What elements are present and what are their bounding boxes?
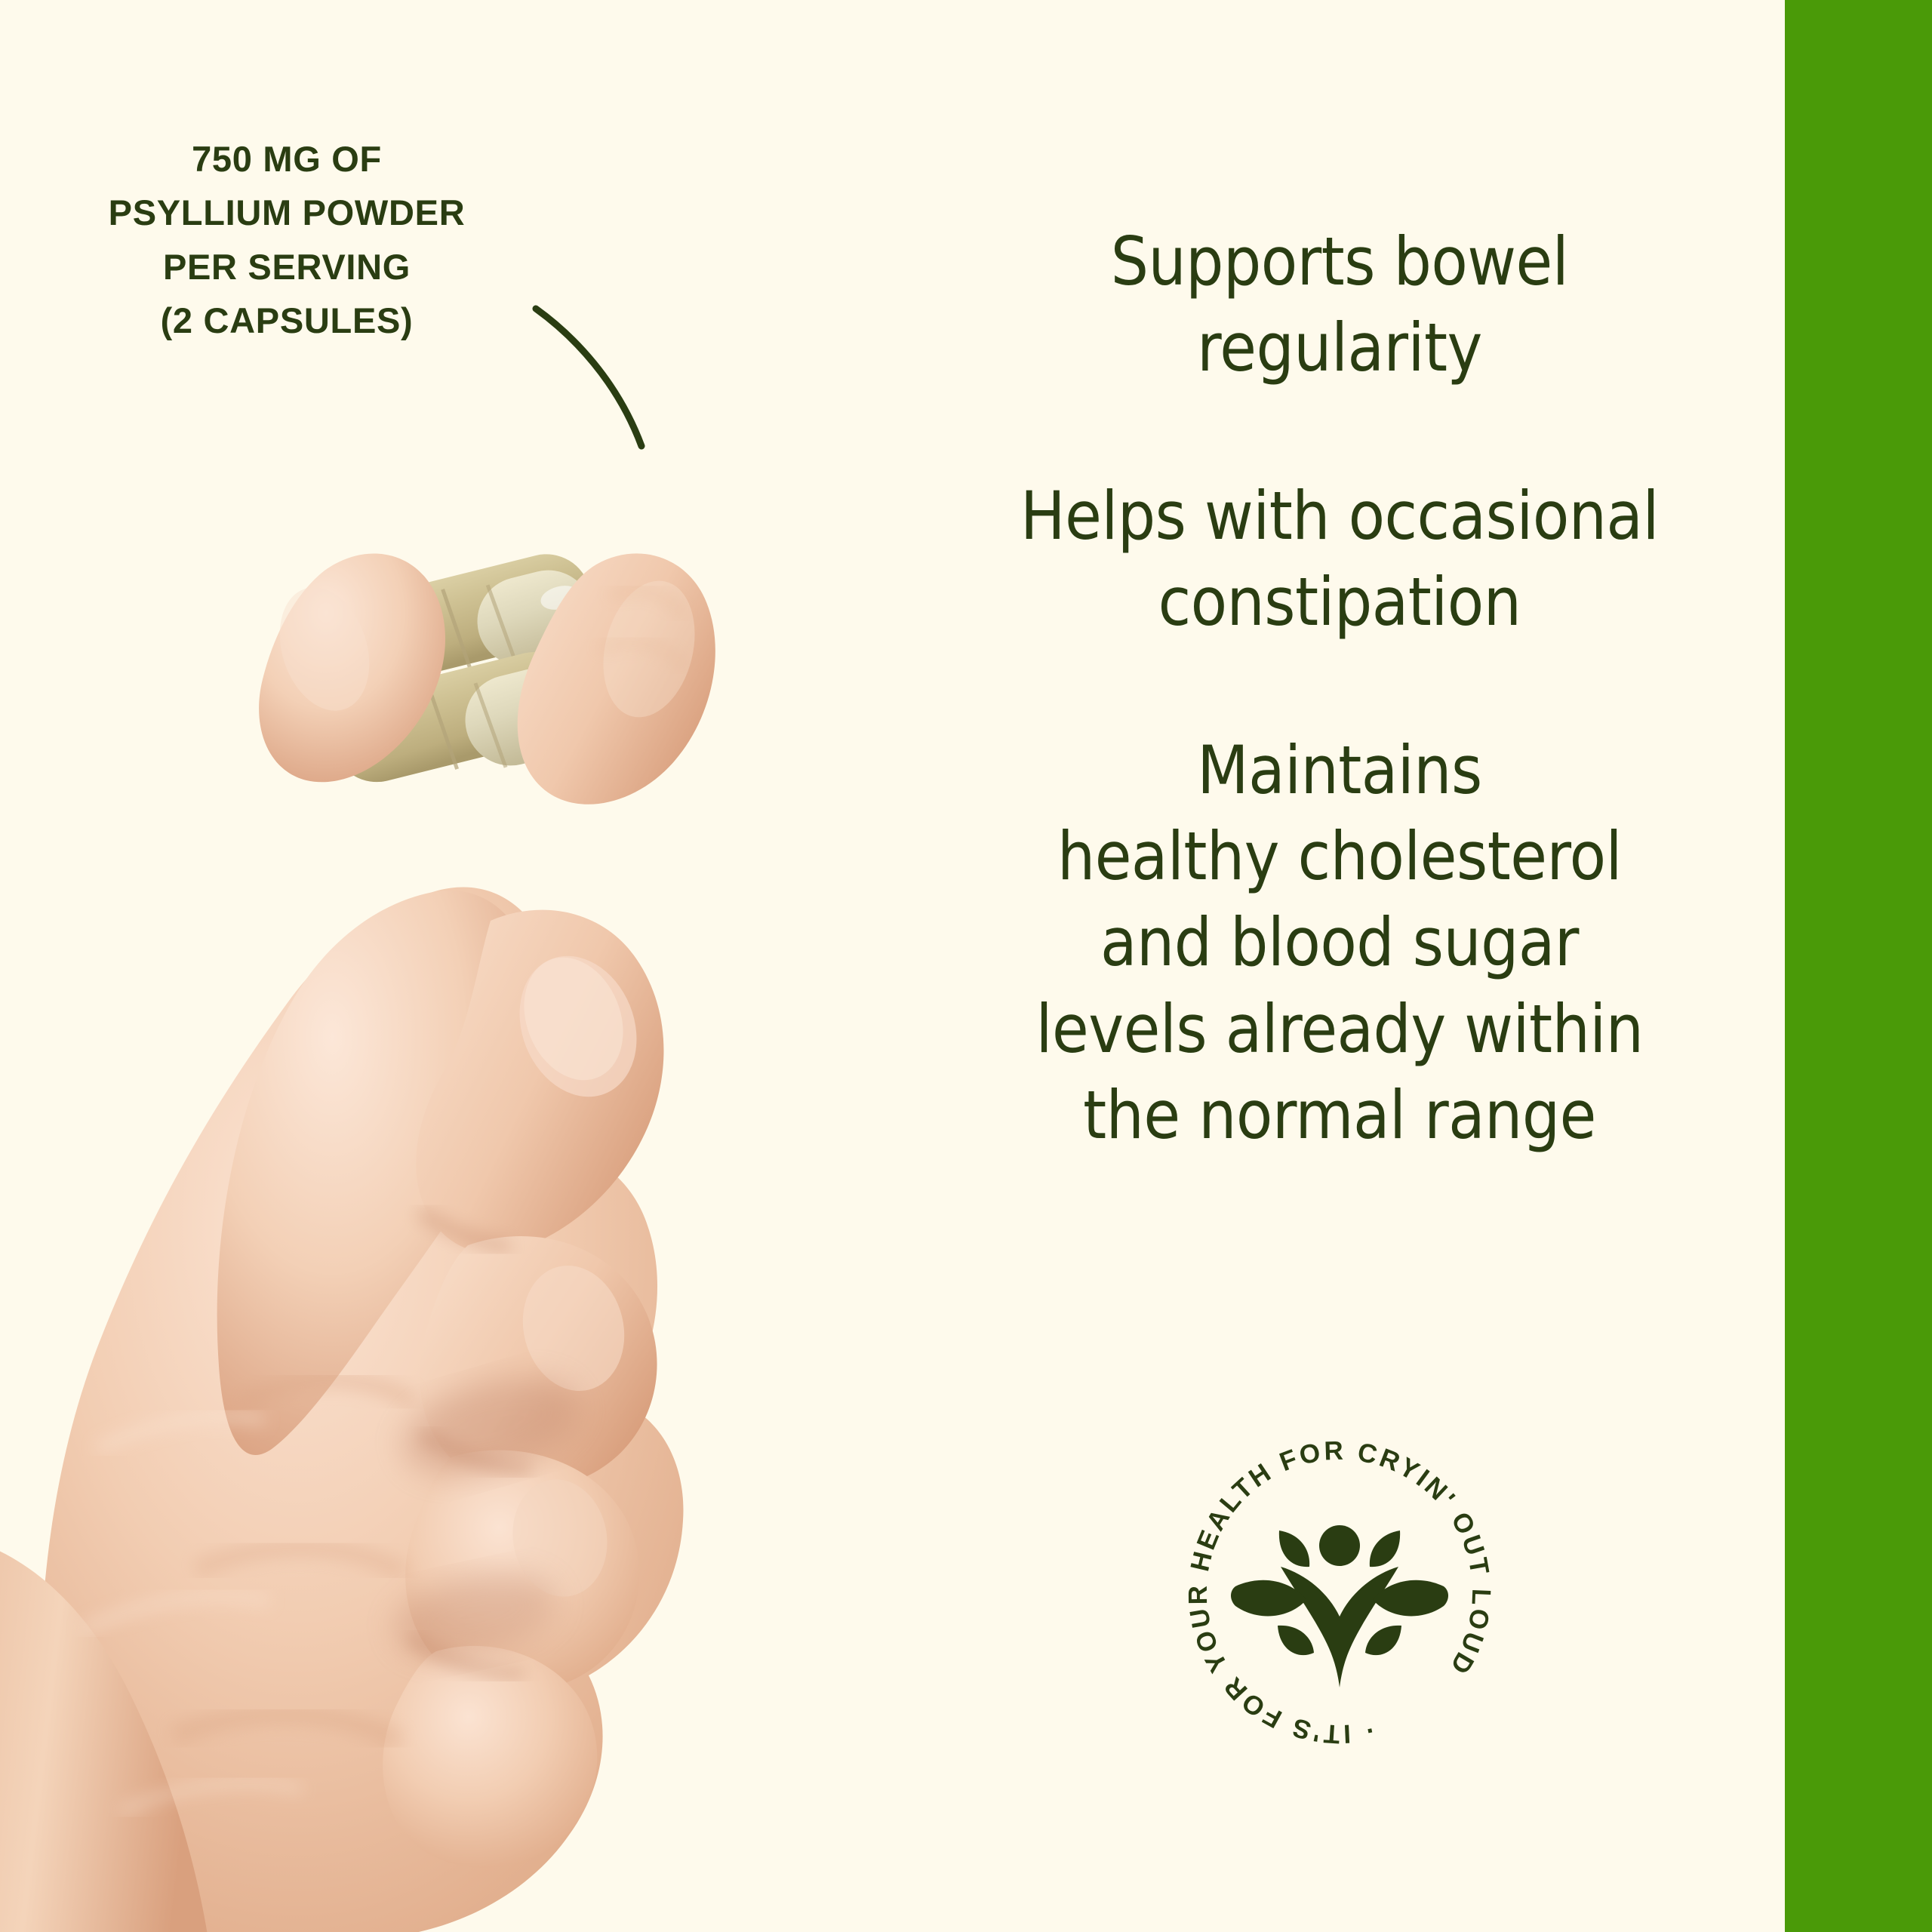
benefit-3-line-2: healthy cholesterol (955, 814, 1724, 900)
product-benefits-graphic: 750 MG OF PSYLLIUM POWDER PER SERVING (2… (0, 0, 1932, 1932)
benefit-3-line-5: the normal range (955, 1072, 1724, 1158)
benefit-2-line-1: Helps with occasional (955, 473, 1724, 559)
brand-badge: · IT'S FOR YOUR HEALTH FOR CRYIN' OUT LO… (1166, 1419, 1513, 1766)
benefit-bowel-regularity: Supports bowel regularity (955, 219, 1724, 392)
hand-holding-capsules-photo (0, 423, 966, 1932)
callout-line-4: (2 CAPSULES) (45, 294, 528, 347)
benefit-occasional-constipation: Helps with occasional constipation (955, 473, 1724, 646)
benefit-3-line-3: and blood sugar (955, 900, 1724, 986)
benefit-cholesterol-blood-sugar: Maintains healthy cholesterol and blood … (955, 728, 1724, 1159)
benefit-1-line-2: regularity (955, 305, 1724, 391)
dosage-callout: 750 MG OF PSYLLIUM POWDER PER SERVING (2… (45, 132, 528, 348)
badge-circular-text: · IT'S FOR YOUR HEALTH FOR CRYIN' OUT LO… (1183, 1436, 1496, 1749)
callout-line-1: 750 MG OF (45, 132, 528, 186)
benefit-1-line-1: Supports bowel (955, 219, 1724, 305)
benefits-list: Supports bowel regularity Helps with occ… (955, 219, 1724, 1159)
benefit-2-line-2: constipation (955, 559, 1724, 645)
benefit-3-line-4: levels already within (955, 986, 1724, 1072)
callout-line-3: PER SERVING (45, 240, 528, 294)
benefit-3-line-1: Maintains (955, 728, 1724, 814)
person-with-leaves-icon (1231, 1525, 1448, 1687)
right-accent-bar (1785, 0, 1932, 1932)
callout-line-2: PSYLLIUM POWDER (45, 186, 528, 239)
